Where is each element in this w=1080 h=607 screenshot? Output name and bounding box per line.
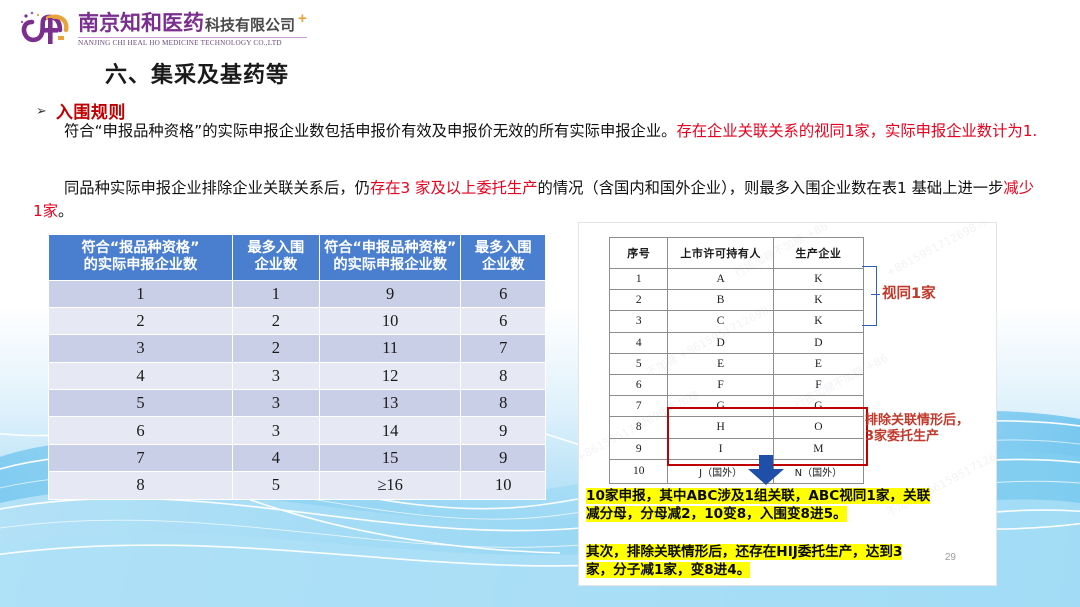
cell: 1: [49, 280, 233, 307]
cell: K: [773, 269, 863, 290]
doc-table-row: 4DD: [610, 332, 864, 353]
cell: 4: [610, 332, 668, 353]
cell: 6: [461, 280, 546, 307]
cell: 10: [461, 472, 546, 499]
paragraph-2-text-c: 。: [58, 202, 73, 220]
cell: 3: [232, 417, 319, 444]
cell: C: [668, 311, 773, 332]
col-header-declared-count-2: 符合“申报品种资格” 的实际申报企业数: [319, 235, 461, 281]
cell: 1: [232, 280, 319, 307]
page-title: 六、集采及基药等: [105, 57, 289, 89]
cell: 6: [610, 374, 668, 395]
cell: 7: [49, 444, 233, 471]
slide-page-number: 29: [945, 552, 956, 563]
cell: D: [773, 332, 863, 353]
paragraph-2-text-red-a: 存在3 家及以上委托生产: [370, 179, 538, 197]
table-row: 74159: [49, 444, 546, 471]
doc-col-header-holder: 上市许可持有人: [668, 238, 773, 269]
doc-table-row: 5EE: [610, 353, 864, 374]
cell: 4: [49, 362, 233, 389]
cell: 6: [49, 417, 233, 444]
cell: 3: [610, 311, 668, 332]
cell: 14: [319, 417, 461, 444]
cell: 5: [49, 390, 233, 417]
paragraph-entry-rule: 符合“申报品种资格”的实际申报企业数包括申报价有效及申报价无效的所有实际申报企业…: [33, 120, 1043, 143]
down-arrow-icon: [744, 455, 788, 485]
cell: 8: [461, 390, 546, 417]
cell: 9: [610, 438, 668, 459]
table-row: 22106: [49, 307, 546, 334]
cell: ≥16: [319, 472, 461, 499]
cell: 9: [461, 417, 546, 444]
col-header-line1: 符合“申报品种资格”: [322, 240, 459, 257]
example-image-panel: 行摇加糖不加糖 +86 +8615951712698 不加糖 不加糖 +8615…: [578, 222, 997, 586]
col-header-line1: 符合“报品种资格”: [51, 240, 230, 257]
cell: 8: [610, 417, 668, 438]
cell: A: [668, 269, 773, 290]
cell: 10: [610, 459, 668, 483]
cell: 5: [610, 353, 668, 374]
grouping-bracket-icon: [862, 266, 877, 326]
cell: 2: [232, 335, 319, 362]
entry-quota-table: 符合“报品种资格” 的实际申报企业数 最多入围 企业数 符合“申报品种资格” 的…: [48, 234, 546, 500]
highlight-line-4: 家，分子减1家，变8进4。: [586, 562, 750, 578]
logo-plus-icon: +: [298, 10, 307, 27]
grouping-bracket-stub-icon: [871, 294, 880, 295]
col-header-line2: 企业数: [463, 257, 543, 274]
doc-table-row: 6FF: [610, 374, 864, 395]
cell: 7: [610, 396, 668, 417]
explanation-highlight-block-1: 10家申报，其中ABC涉及1组关联，ABC视同1家，关联 减分母，分母减2，10…: [586, 487, 986, 524]
col-header-line1: 最多入围: [235, 240, 317, 257]
table-row: 1196: [49, 280, 546, 307]
col-header-line2: 的实际申报企业数: [51, 257, 230, 274]
table-row: 85≥1610: [49, 472, 546, 499]
watermark: +8615951712698 不加糖: [883, 222, 997, 280]
annotation-exclude-line1: 排除关联情形后，: [865, 413, 997, 429]
cell: 8: [49, 472, 233, 499]
cell: 1: [610, 269, 668, 290]
logo-mark-icon: [18, 8, 76, 52]
cell: 2: [49, 307, 233, 334]
highlight-line-1: 10家申报，其中ABC涉及1组关联，ABC视同1家，关联: [586, 488, 930, 504]
cell: 2: [610, 290, 668, 311]
paragraph-1-text-a: 符合“申报品种资格”的实际申报企业数包括申报价有效及申报价无效的所有实际申报企业…: [64, 122, 676, 140]
cell: 11: [319, 335, 461, 362]
cell: D: [668, 332, 773, 353]
cell: 3: [49, 335, 233, 362]
doc-table-row: 3CK: [610, 311, 864, 332]
doc-table-row: 1AK: [610, 269, 864, 290]
cell: 13: [319, 390, 461, 417]
table-header-row: 符合“报品种资格” 的实际申报企业数 最多入围 企业数 符合“申报品种资格” 的…: [49, 235, 546, 281]
cell: 9: [461, 444, 546, 471]
highlight-line-2: 减分母，分母减2，10变8，入围变8进5。: [586, 506, 847, 522]
col-header-declared-count-1: 符合“报品种资格” 的实际申报企业数: [49, 235, 233, 281]
table-row: 63149: [49, 417, 546, 444]
cell: 3: [232, 362, 319, 389]
bullet-arrow-icon: ➢: [36, 104, 47, 117]
cell: 7: [461, 335, 546, 362]
cell: 3: [232, 390, 319, 417]
cell: 9: [319, 280, 461, 307]
doc-col-header-manufacturer: 生产企业: [773, 238, 863, 269]
doc-table-row: 2BK: [610, 290, 864, 311]
paragraph-1-text-red: 存在企业关联关系的视同1家，实际申报企业数计为1.: [676, 122, 1037, 140]
col-header-max-entry-1: 最多入围 企业数: [232, 235, 319, 281]
cell: 15: [319, 444, 461, 471]
cell: 2: [232, 307, 319, 334]
logo-company-cn-suffix: 科技有限公司: [205, 18, 295, 33]
cell: 10: [319, 307, 461, 334]
paragraph-2-text-b: 的情况（含国内和国外企业），则最多入围企业数在表1 基础上进一步: [538, 179, 1004, 197]
doc-col-header-index: 序号: [610, 238, 668, 269]
cell: 8: [461, 362, 546, 389]
col-header-line2: 企业数: [235, 257, 317, 274]
annotation-same-one: 视同1家: [882, 285, 936, 303]
table-row: 53138: [49, 390, 546, 417]
table-row: 32117: [49, 335, 546, 362]
cell: 6: [461, 307, 546, 334]
company-logo: 南京知和医药 科技有限公司 + NANJING CHI HEAL HO MEDI…: [18, 6, 358, 54]
paragraph-contract-rule: 同品种实际申报企业排除企业关联关系后，仍存在3 家及以上委托生产的情况（含国内和…: [33, 177, 1043, 224]
doc-table-header-row: 序号 上市许可持有人 生产企业: [610, 238, 864, 269]
explanation-highlight-block-2: 其次，排除关联情形后，还存在HIJ委托生产，达到3 家，分子减1家，变8进4。: [586, 543, 986, 580]
logo-company-cn: 南京知和医药: [78, 13, 204, 34]
logo-company-en: NANJING CHI HEAL HO MEDICINE TECHNOLOGY …: [78, 37, 307, 48]
highlight-line-3: 其次，排除关联情形后，还存在HIJ委托生产，达到3: [586, 544, 902, 560]
cell: 5: [232, 472, 319, 499]
cell: E: [773, 353, 863, 374]
annotation-exclude-relation: 排除关联情形后， 3家委托生产: [865, 413, 997, 446]
cell: F: [773, 374, 863, 395]
cell: K: [773, 311, 863, 332]
cell: K: [773, 290, 863, 311]
paragraph-2-text-a: 同品种实际申报企业排除企业关联关系后，仍: [64, 179, 370, 197]
cell: 12: [319, 362, 461, 389]
cell: 4: [232, 444, 319, 471]
cell: B: [668, 290, 773, 311]
col-header-line1: 最多入围: [463, 240, 543, 257]
annotation-exclude-line2: 3家委托生产: [865, 429, 997, 445]
col-header-max-entry-2: 最多入围 企业数: [461, 235, 546, 281]
table-row: 43128: [49, 362, 546, 389]
col-header-line2: 的实际申报企业数: [322, 257, 459, 274]
cell: E: [668, 353, 773, 374]
slide-canvas: 南京知和医药 科技有限公司 + NANJING CHI HEAL HO MEDI…: [0, 0, 1080, 607]
cell: F: [668, 374, 773, 395]
